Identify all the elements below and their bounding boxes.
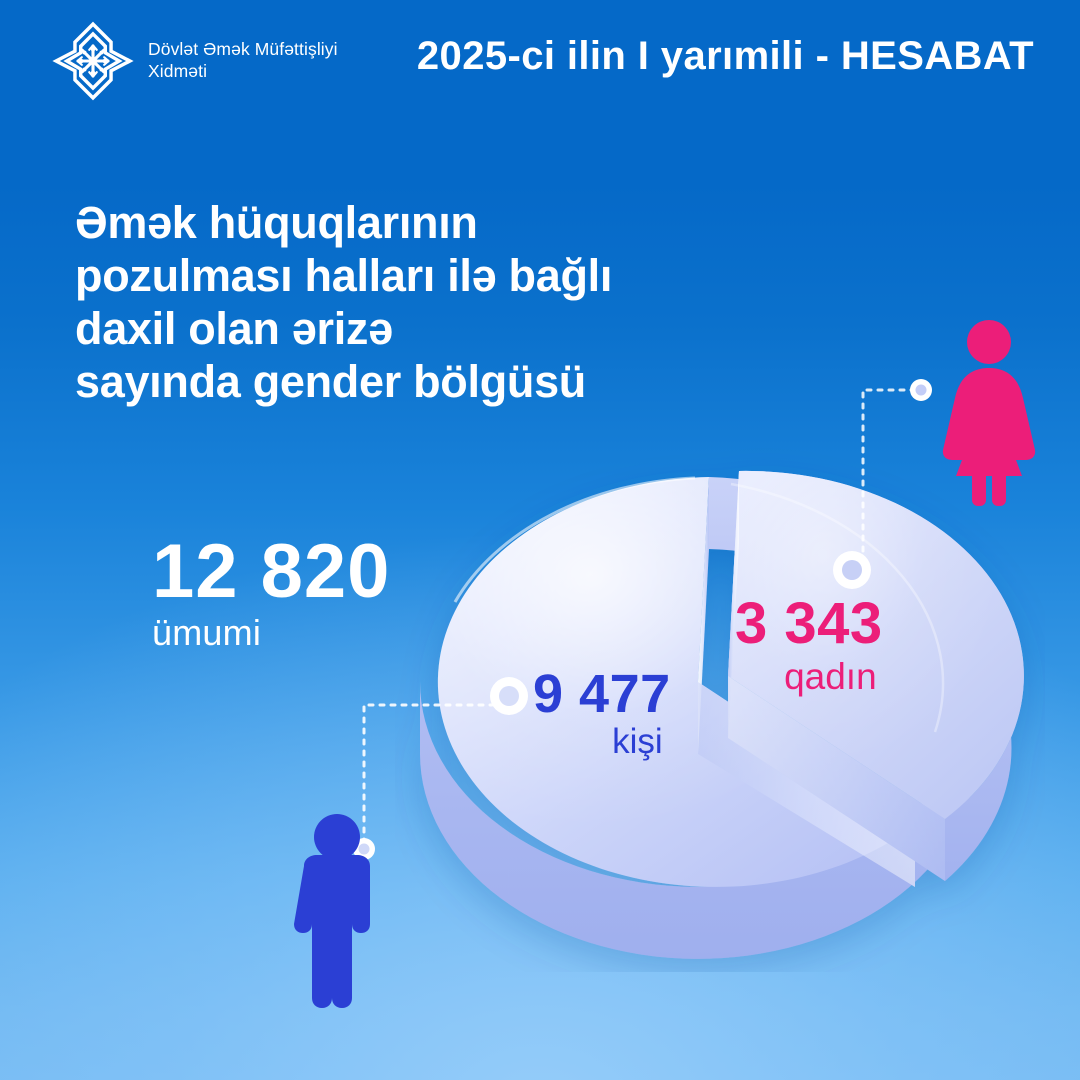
connector-dot-women [910,379,932,401]
female-pictogram-icon [930,318,1048,508]
total-stat: 12 820 ümumi [152,536,390,653]
gender-pie-chart [395,432,1045,972]
women-value: 3 343 [735,596,883,653]
pie-body [420,471,1024,959]
headline-line-2: pozulması halları ilə bağlı [75,249,612,302]
men-label: kişi [533,723,671,762]
callout-women: 3 343 qadın [735,596,883,698]
diamond-rosette-emblem-icon [52,20,134,102]
women-label: qadın [735,657,883,698]
report-title: 2025-ci ilin I yarımili - HESABAT [417,34,1034,79]
pie-chart-svg [395,432,1045,972]
header: Dövlət Əmək Müfəttişliyi Xidməti 2025-ci… [0,0,1080,118]
headline-line-1: Əmək hüquqlarının [75,196,612,249]
male-pictogram-icon [282,812,392,1008]
headline-line-3: daxil olan ərizə [75,302,612,355]
organization-name: Dövlət Əmək Müfəttişliyi Xidməti [148,39,338,82]
callout-men: 9 477 kişi [533,668,671,761]
infographic-canvas: Dövlət Əmək Müfəttişliyi Xidməti 2025-ci… [0,0,1080,1080]
total-value: 12 820 [152,536,390,609]
total-label: ümumi [152,613,390,653]
headline-line-4: sayında gender bölgüsü [75,355,612,408]
logo-lockup: Dövlət Əmək Müfəttişliyi Xidməti [52,20,338,102]
page-title: Əmək hüquqlarının pozulması halları ilə … [75,196,612,408]
men-value: 9 477 [533,668,671,721]
